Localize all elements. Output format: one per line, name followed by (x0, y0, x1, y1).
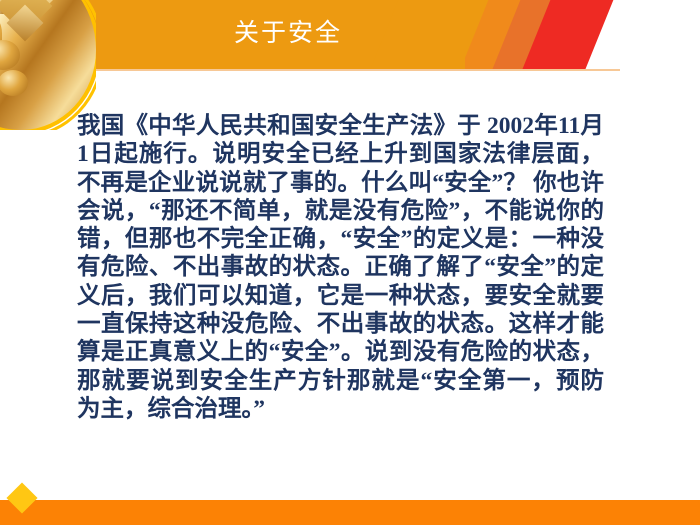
slide-body-paragraph: 我国《中华人民共和国安全生产法》于 2002年11月1日起施行。说明安全已经上升… (77, 112, 604, 423)
slide-title: 关于安全 (234, 18, 474, 50)
footer-bar (0, 500, 700, 525)
presentation-slide: 关于安全 我国《中华人民共和国安全生产法》于 2002年11月1日起施行。说明安… (0, 0, 700, 525)
gold-arc-outline (0, 0, 96, 130)
gold-emblem-decoration-icon (0, 0, 96, 130)
